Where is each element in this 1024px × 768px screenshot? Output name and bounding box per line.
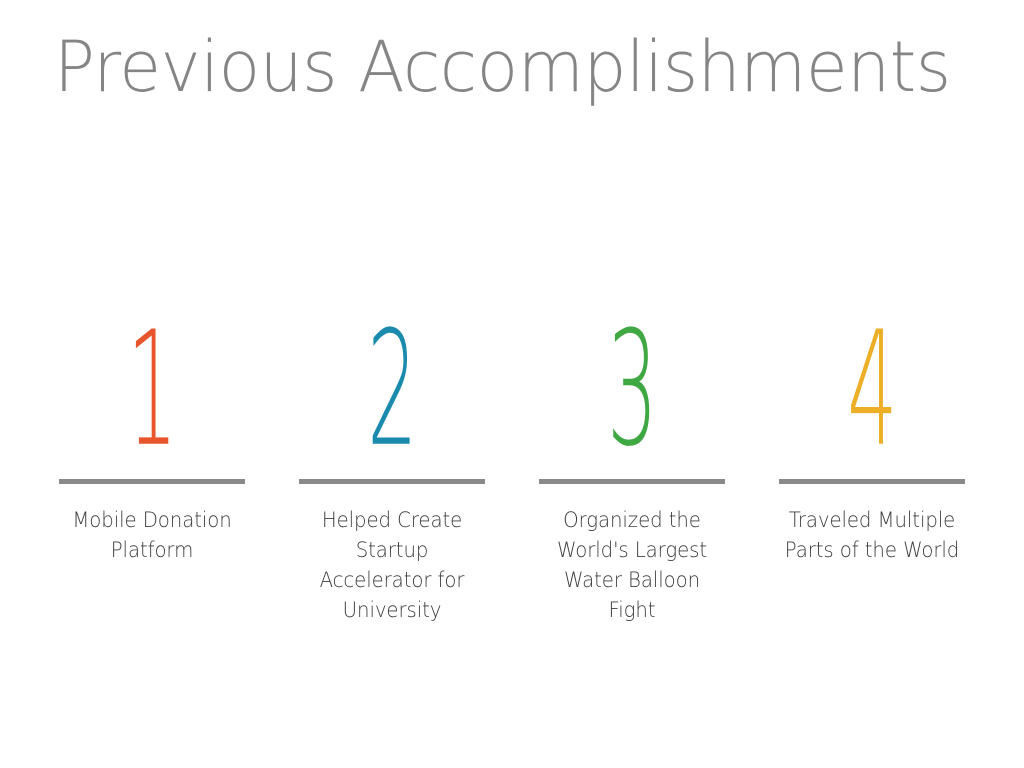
numeral-4: 4 [847,329,897,452]
accomplishment-item-2[interactable]: 2 Helped Create Startup Accelerator for … [292,300,492,625]
page-title: Previous Accomplishments [54,23,943,111]
accomplishment-caption-3: Organized the World's Largest Water Ball… [541,505,723,625]
numeral-1: 1 [127,329,177,452]
numeral-wrap-3: 3 [532,300,732,452]
numeral-wrap-4: 4 [772,300,972,452]
accomplishment-item-4[interactable]: 4 Traveled Multiple Parts of the World [772,300,972,565]
accomplishment-caption-1: Mobile Donation Platform [61,505,243,565]
numeral-wrap-1: 1 [52,300,252,452]
accomplishments-row: 1 Mobile Donation Platform 2 Helped Crea… [52,300,972,640]
numeral-3: 3 [607,329,657,452]
accomplishment-caption-4: Traveled Multiple Parts of the World [781,505,963,565]
accomplishment-item-1[interactable]: 1 Mobile Donation Platform [52,300,252,565]
accomplishment-caption-2: Helped Create Startup Accelerator for Un… [301,505,483,625]
numeral-2: 2 [367,329,417,452]
accomplishment-item-3[interactable]: 3 Organized the World's Largest Water Ba… [532,300,732,625]
slide-canvas: Previous Accomplishments 1 Mobile Donati… [0,0,1024,768]
numeral-wrap-2: 2 [292,300,492,452]
